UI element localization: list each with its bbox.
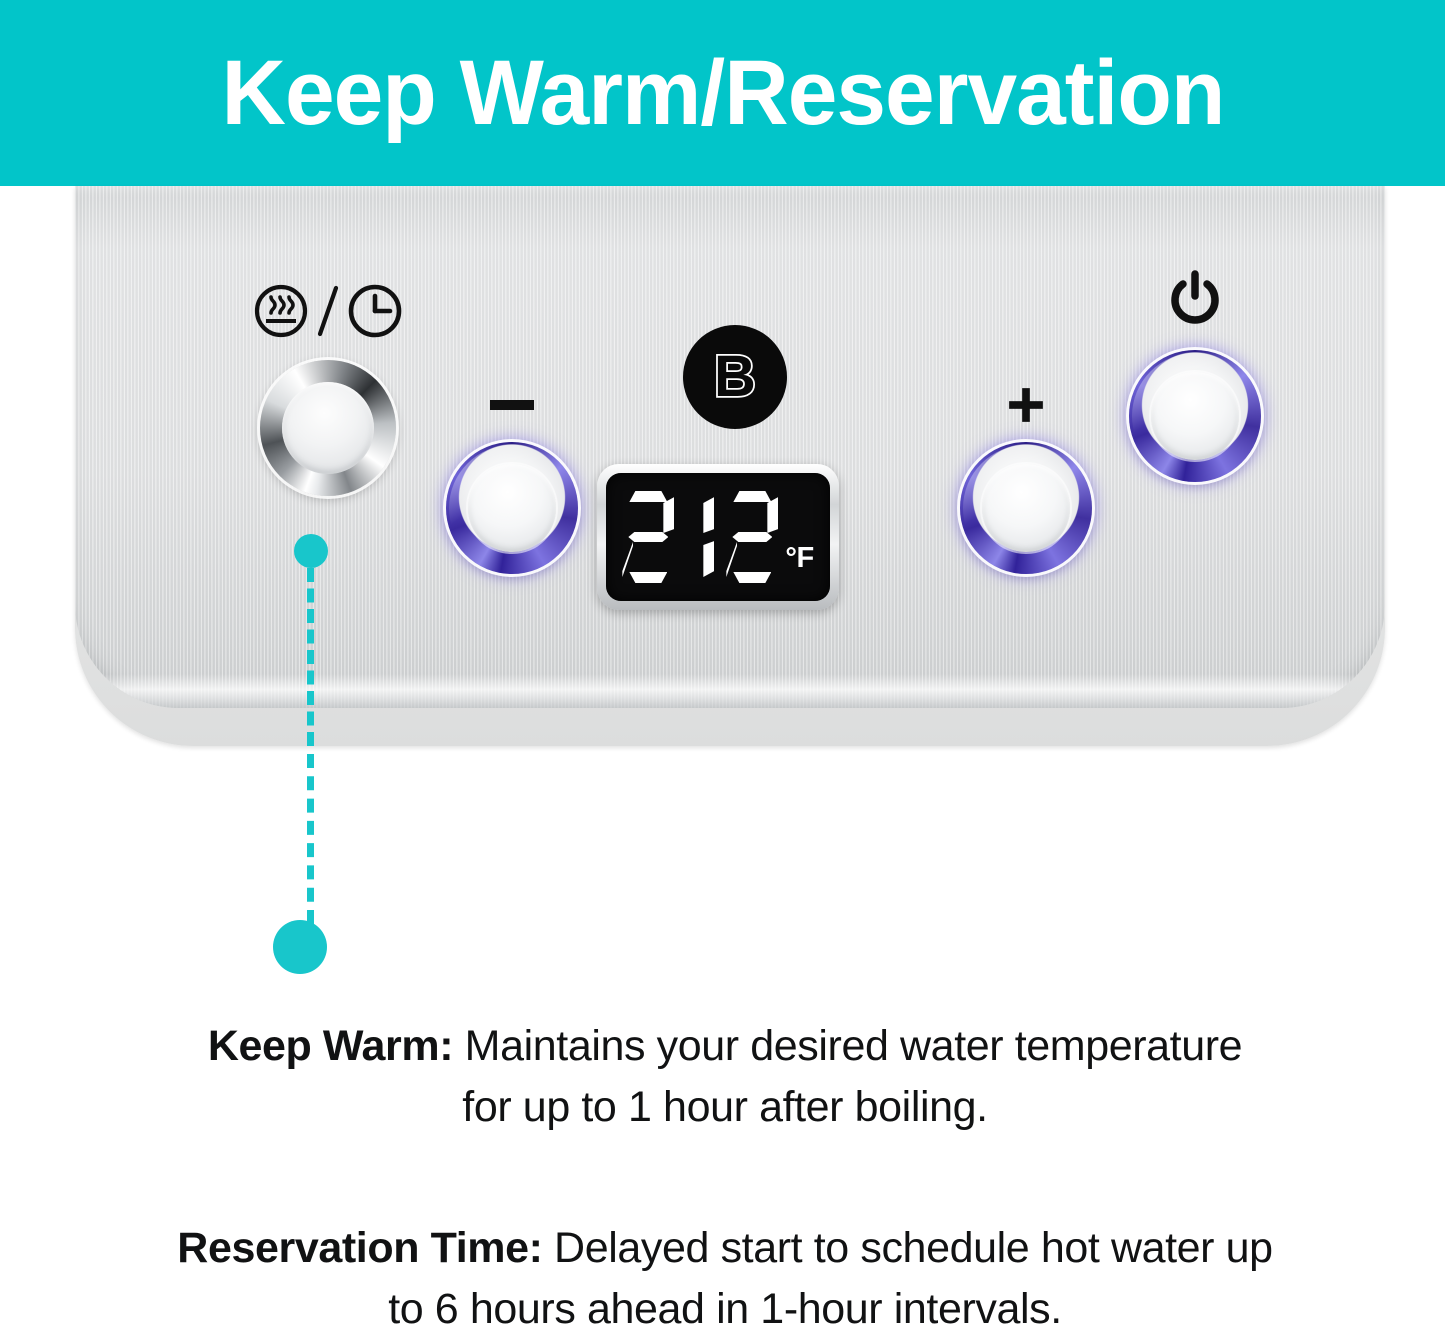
decrease-temperature-button[interactable] [446, 442, 578, 574]
callout-anchor-dot [294, 534, 328, 568]
callout-dashed-line-lower [307, 754, 314, 924]
description-line-1: Reservation Time: Delayed start to sched… [70, 1218, 1380, 1279]
clock-icon [347, 283, 403, 339]
description-line-2: to 6 hours ahead in 1-hour intervals. [70, 1279, 1380, 1330]
brand-logo-letter: B [714, 348, 756, 406]
slash-separator-icon [315, 283, 341, 339]
infographic-page: Keep Warm/Reservation [0, 0, 1445, 1330]
seven-segment-digit [726, 491, 778, 583]
callout-target-dot [273, 920, 327, 974]
display-screen: °F [606, 473, 830, 601]
steam-waves-icon [253, 283, 309, 339]
description-text: Maintains your desired water temperature [453, 1022, 1242, 1070]
description-separator: : [529, 1224, 543, 1272]
header-banner: Keep Warm/Reservation [0, 0, 1445, 186]
display-digits [622, 491, 778, 583]
minus-icon [482, 382, 542, 428]
temperature-unit-label: °F [785, 544, 813, 573]
page-title: Keep Warm/Reservation [221, 47, 1224, 139]
appliance-control-panel: B [75, 186, 1385, 746]
control-keep-warm-reservation [243, 280, 413, 496]
description-keep-warm: Keep Warm: Maintains your desired water … [70, 1016, 1380, 1138]
description-text: Delayed start to schedule hot water up [543, 1224, 1273, 1272]
seven-segment-digit [686, 491, 714, 583]
description-separator: : [439, 1022, 453, 1070]
keep-warm-reservation-button[interactable] [260, 360, 396, 496]
plus-icon [996, 382, 1056, 428]
callout-dashed-line-upper [307, 568, 314, 746]
increase-temperature-button[interactable] [960, 442, 1092, 574]
description-reservation-time: Reservation Time: Delayed start to sched… [70, 1218, 1380, 1330]
description-label: Keep Warm [208, 1022, 439, 1070]
power-icon [1165, 270, 1225, 334]
control-increase-temperature [941, 382, 1111, 574]
description-line-2: for up to 1 hour after boiling. [70, 1077, 1380, 1138]
keep-warm-reservation-icon-group [253, 280, 403, 342]
temperature-display: °F [597, 464, 839, 610]
control-power [1110, 270, 1280, 482]
display-readout: °F [622, 491, 813, 583]
seven-segment-digit [622, 491, 674, 583]
description-label: Reservation Time [177, 1224, 528, 1272]
control-decrease-temperature [427, 382, 597, 574]
brand-logo: B [683, 325, 787, 429]
description-line-1: Keep Warm: Maintains your desired water … [70, 1016, 1380, 1077]
power-button[interactable] [1129, 350, 1261, 482]
